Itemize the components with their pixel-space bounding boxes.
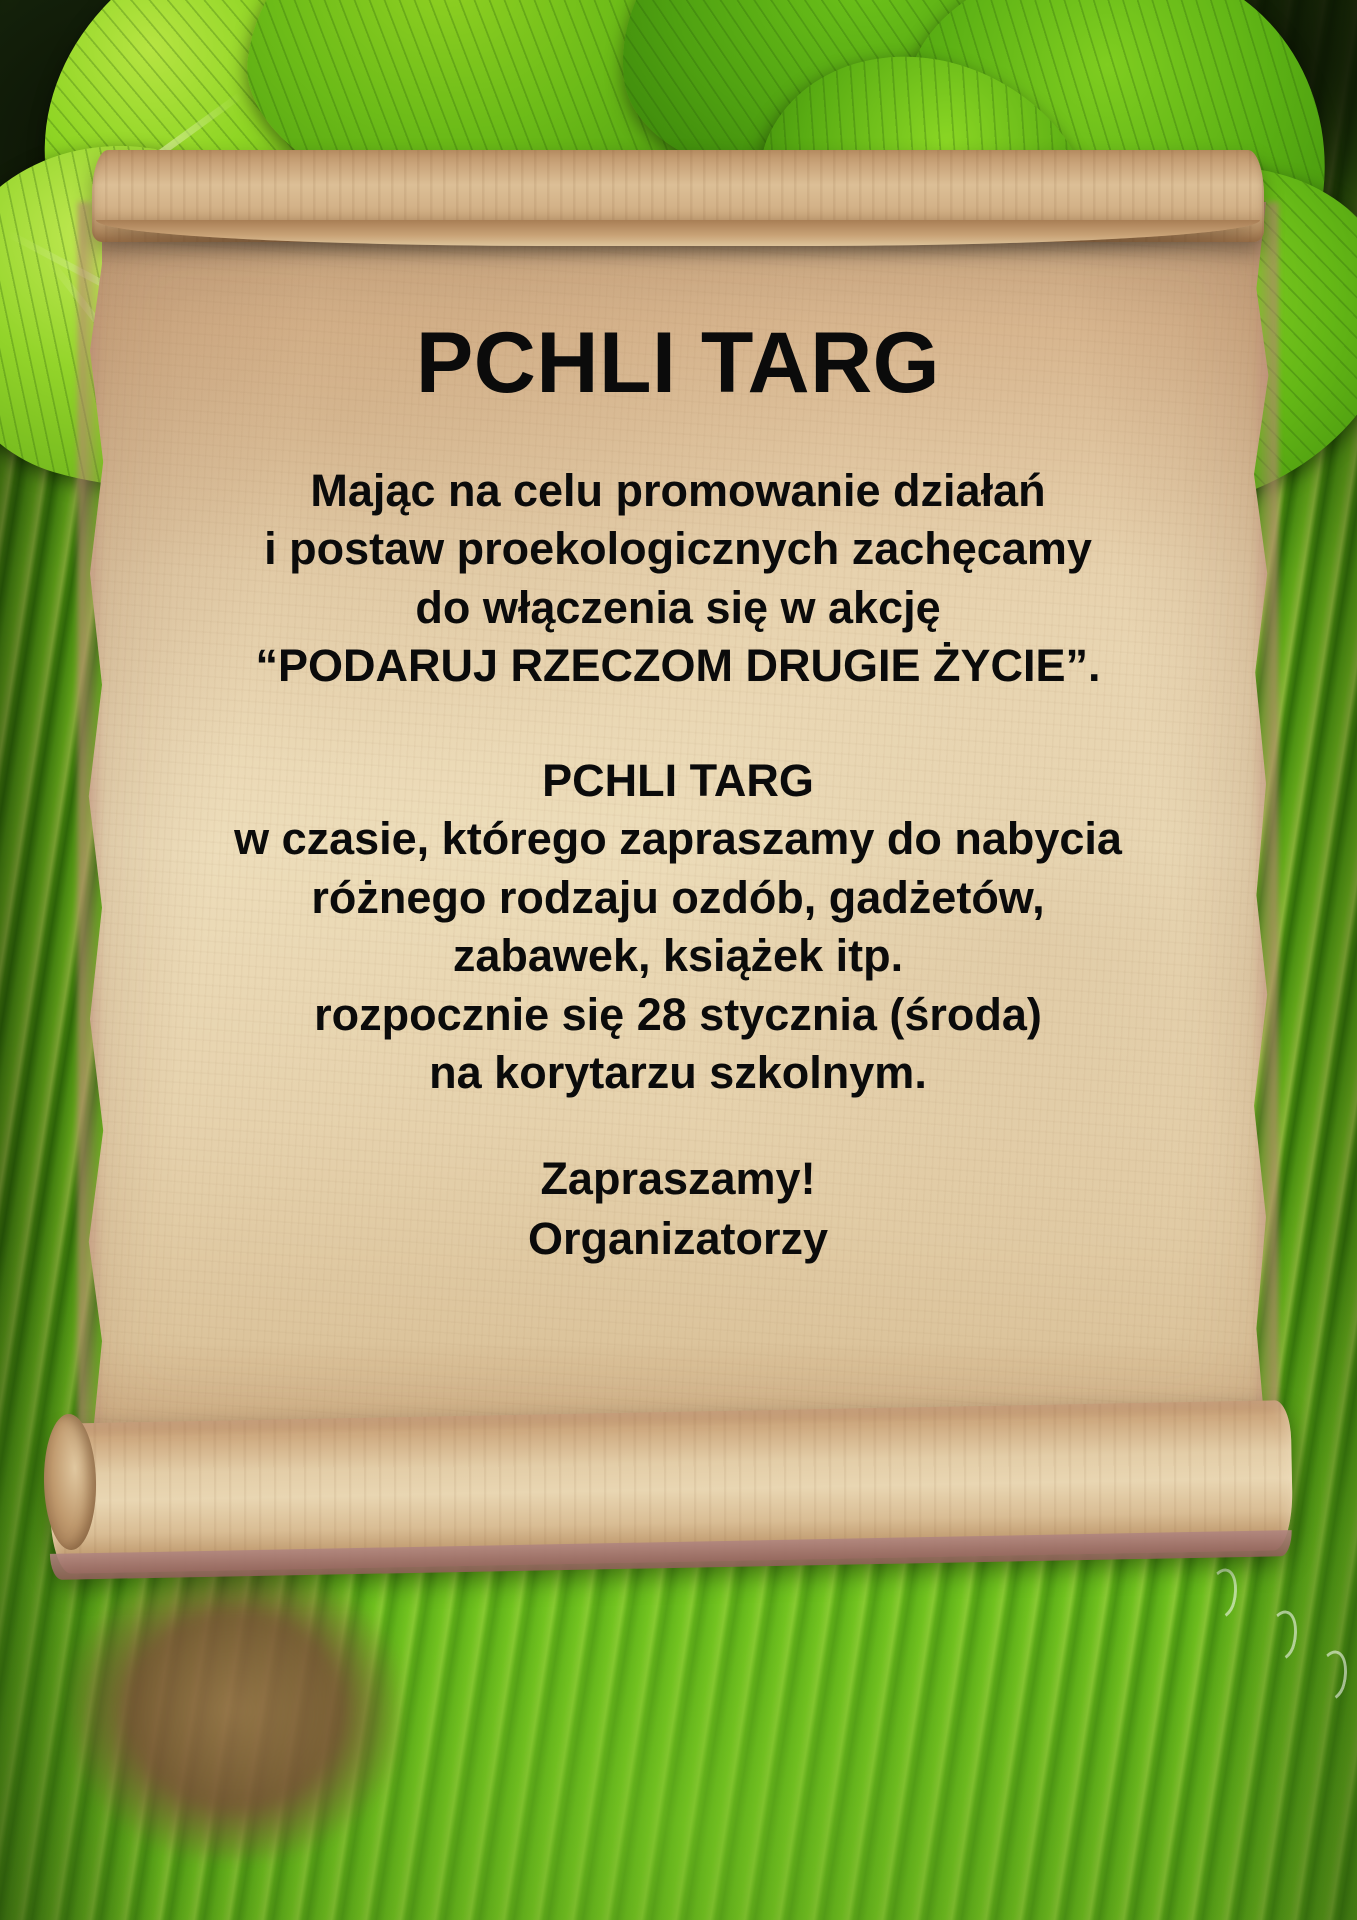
intro-paragraph: Mając na celu promowanie działań i posta… [138,462,1218,696]
spacer [138,696,1218,752]
parchment-scroll: PCHLI TARG Mając na celu promowanie dzia… [78,150,1278,1570]
closing-signature: Zapraszamy! Organizatorzy [138,1149,1218,1270]
poster: PCHLI TARG Mając na celu promowanie dzia… [0,0,1357,1920]
event-details-paragraph: w czasie, którego zapraszamy do nabycia … [138,810,1218,1103]
page-title: PCHLI TARG [138,320,1218,408]
parchment-left-edge [78,202,104,1440]
poster-content: PCHLI TARG Mając na celu promowanie dzia… [138,320,1218,1269]
event-heading: PCHLI TARG [138,752,1218,811]
spacer [138,1103,1218,1149]
parchment-right-edge [1252,202,1278,1440]
soil-patch-bottom-left [70,1560,400,1860]
